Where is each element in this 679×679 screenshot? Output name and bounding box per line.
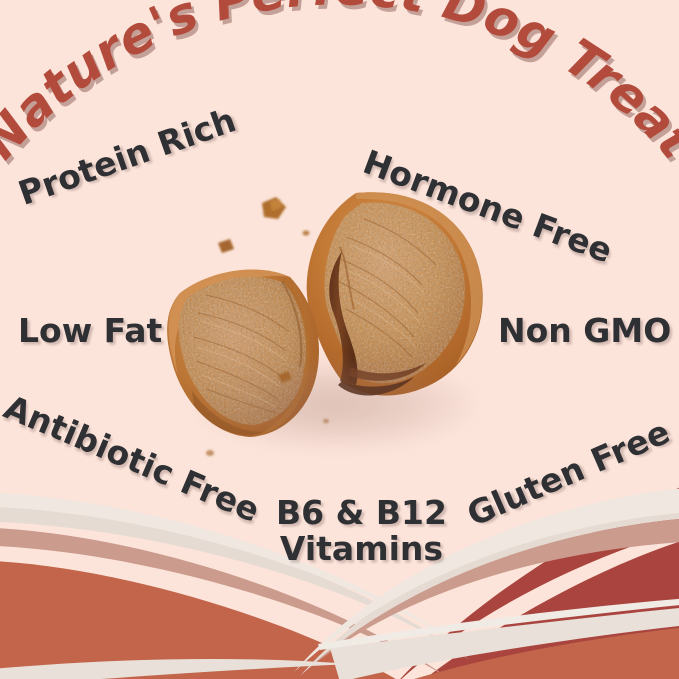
feature-label-vitamins-line1: B6 & B12: [276, 495, 447, 531]
bottom-left-cream-sliver: [0, 659, 352, 679]
promo-graphic: Nature's Perfect Dog Treat Nature's Perf…: [0, 0, 679, 679]
feature-label-vitamins: B6 & B12 Vitamins: [276, 495, 447, 566]
band-terracotta-left: [0, 560, 430, 679]
product-image-dog-treat: [150, 185, 530, 485]
central-cream-swoosh-tip: [318, 598, 679, 650]
feature-label-low-fat: Low Fat: [18, 313, 162, 349]
feature-label-vitamins-line2: Vitamins: [276, 531, 447, 567]
central-cream-swoosh: [330, 608, 679, 679]
feature-label-non-gmo: Non GMO: [498, 313, 671, 349]
band-terracotta-tail-right: [355, 628, 679, 679]
product-drop-shadow: [195, 360, 475, 450]
